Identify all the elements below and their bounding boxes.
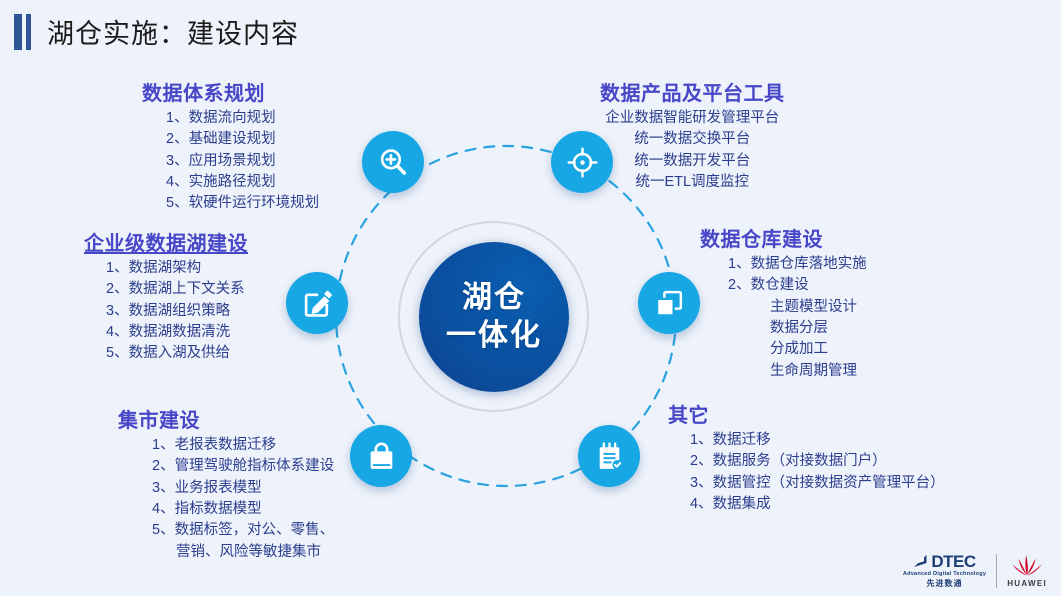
- crosshair-target-icon: [566, 146, 599, 179]
- block-item-list: 1、数据湖架构 2、数据湖上下文关系 3、数据湖组织策略 4、数据湖数据清洗 5…: [84, 258, 248, 365]
- block-enterprise-data-lake: 企业级数据湖建设 1、数据湖架构 2、数据湖上下文关系 3、数据湖组织策略 4、…: [84, 232, 248, 365]
- list-item: 企业数据智能研发管理平台: [600, 108, 785, 129]
- block-heading: 集市建设: [118, 409, 334, 433]
- list-item: 2、数仓建设: [728, 275, 867, 296]
- list-item: 2、基础建设规划: [166, 129, 319, 150]
- block-item-list: 企业数据智能研发管理平台 统一数据交换平台 统一数据开发平台 统一ETL调度监控: [600, 108, 785, 193]
- copy-layers-icon: [653, 287, 686, 320]
- list-item: 2、数据服务（对接数据门户）: [690, 451, 945, 472]
- list-item: 3、应用场景规划: [166, 151, 319, 172]
- dtec-tagline: Advanced Digital Technology: [903, 572, 986, 578]
- list-item: 1、老报表数据迁移: [152, 435, 334, 456]
- list-item: 1、数据仓库落地实施: [728, 254, 867, 275]
- list-item: 4、实施路径规划: [166, 172, 319, 193]
- list-item: 1、数据迁移: [690, 430, 945, 451]
- block-data-warehouse: 数据仓库建设 1、数据仓库落地实施 2、数仓建设 主题模型设计 数据分层 分成加…: [700, 228, 867, 382]
- list-subitem: 生命周期管理: [728, 361, 867, 382]
- huawei-logo: HUAWEI: [1007, 553, 1047, 588]
- block-item-list: 1、数据迁移 2、数据服务（对接数据门户） 3、数据管控（对接数据资产管理平台）…: [668, 430, 945, 515]
- dtec-wordmark: DTEC: [931, 553, 975, 570]
- list-item: 4、指标数据模型: [152, 499, 334, 520]
- title-accent-bars: [14, 14, 31, 50]
- notepad-check-icon: [593, 440, 626, 473]
- list-item: 5、数据入湖及供给: [106, 343, 248, 364]
- node-bottom-right[interactable]: [578, 425, 640, 487]
- list-item: 5、软硬件运行环境规划: [166, 193, 319, 214]
- list-item: 统一数据交换平台: [600, 129, 785, 150]
- list-item: 3、业务报表模型: [152, 478, 334, 499]
- list-item: 5、数据标签，对公、零售、: [152, 520, 334, 541]
- list-item: 1、数据流向规划: [166, 108, 319, 129]
- list-item: 4、数据湖数据清洗: [106, 322, 248, 343]
- block-heading: 数据体系规划: [142, 82, 319, 106]
- node-top-left[interactable]: [362, 131, 424, 193]
- list-item: 3、数据湖组织策略: [106, 301, 248, 322]
- center-circle: 湖仓 一体化: [419, 242, 569, 392]
- list-item: 3、数据管控（对接数据资产管理平台）: [690, 473, 945, 494]
- block-item-list: 1、数据流向规划 2、基础建设规划 3、应用场景规划 4、实施路径规划 5、软硬…: [142, 108, 319, 215]
- huawei-wordmark: HUAWEI: [1007, 579, 1047, 588]
- dtec-logo: DTEC Advanced Digital Technology 先进数通: [903, 553, 986, 588]
- block-item-list: 1、数据仓库落地实施 2、数仓建设 主题模型设计 数据分层 分成加工 生命周期管…: [700, 254, 867, 382]
- center-line-2: 一体化: [446, 317, 542, 355]
- zoom-in-icon: [377, 146, 410, 179]
- edit-pencil-icon: [301, 287, 334, 320]
- block-heading: 企业级数据湖建设: [84, 232, 248, 256]
- node-bottom-left[interactable]: [350, 425, 412, 487]
- list-item: 2、管理驾驶舱指标体系建设: [152, 456, 334, 477]
- shopping-bag-icon: [365, 440, 398, 473]
- block-data-mart: 集市建设 1、老报表数据迁移 2、管理驾驶舱指标体系建设 3、业务报表模型 4、…: [118, 409, 334, 563]
- list-item: 2、数据湖上下文关系: [106, 279, 248, 300]
- list-item: 4、数据集成: [690, 494, 945, 515]
- page-title: 湖仓实施：建设内容: [14, 12, 299, 51]
- node-middle-left[interactable]: [286, 272, 348, 334]
- slide-canvas: 湖仓实施：建设内容 湖仓 一体化: [0, 0, 1061, 596]
- list-item-continuation: 营销、风险等敏捷集市: [152, 542, 334, 563]
- block-others: 其它 1、数据迁移 2、数据服务（对接数据门户） 3、数据管控（对接数据资产管理…: [668, 404, 945, 515]
- dtec-mark-icon: [913, 554, 929, 569]
- list-item: 统一数据开发平台: [600, 151, 785, 172]
- node-middle-right[interactable]: [638, 272, 700, 334]
- block-heading: 其它: [668, 404, 945, 428]
- dtec-chinese-name: 先进数通: [927, 580, 963, 588]
- block-heading: 数据仓库建设: [700, 228, 867, 252]
- block-item-list: 1、老报表数据迁移 2、管理驾驶舱指标体系建设 3、业务报表模型 4、指标数据模…: [118, 435, 334, 563]
- block-heading: 数据产品及平台工具: [600, 82, 785, 106]
- list-item: 统一ETL调度监控: [600, 172, 785, 193]
- list-subitem: 数据分层: [728, 318, 867, 339]
- block-data-products-platform-tools: 数据产品及平台工具 企业数据智能研发管理平台 统一数据交换平台 统一数据开发平台…: [600, 82, 785, 193]
- block-data-system-planning: 数据体系规划 1、数据流向规划 2、基础建设规划 3、应用场景规划 4、实施路径…: [142, 82, 319, 215]
- list-subitem: 分成加工: [728, 339, 867, 360]
- footer-divider: [996, 554, 997, 588]
- list-item: 1、数据湖架构: [106, 258, 248, 279]
- huawei-flower-icon: [1010, 553, 1044, 577]
- footer-logos: DTEC Advanced Digital Technology 先进数通 HU…: [903, 553, 1047, 588]
- page-title-text: 湖仓实施：建设内容: [47, 12, 299, 51]
- center-line-1: 湖仓: [462, 279, 526, 317]
- list-subitem: 主题模型设计: [728, 297, 867, 318]
